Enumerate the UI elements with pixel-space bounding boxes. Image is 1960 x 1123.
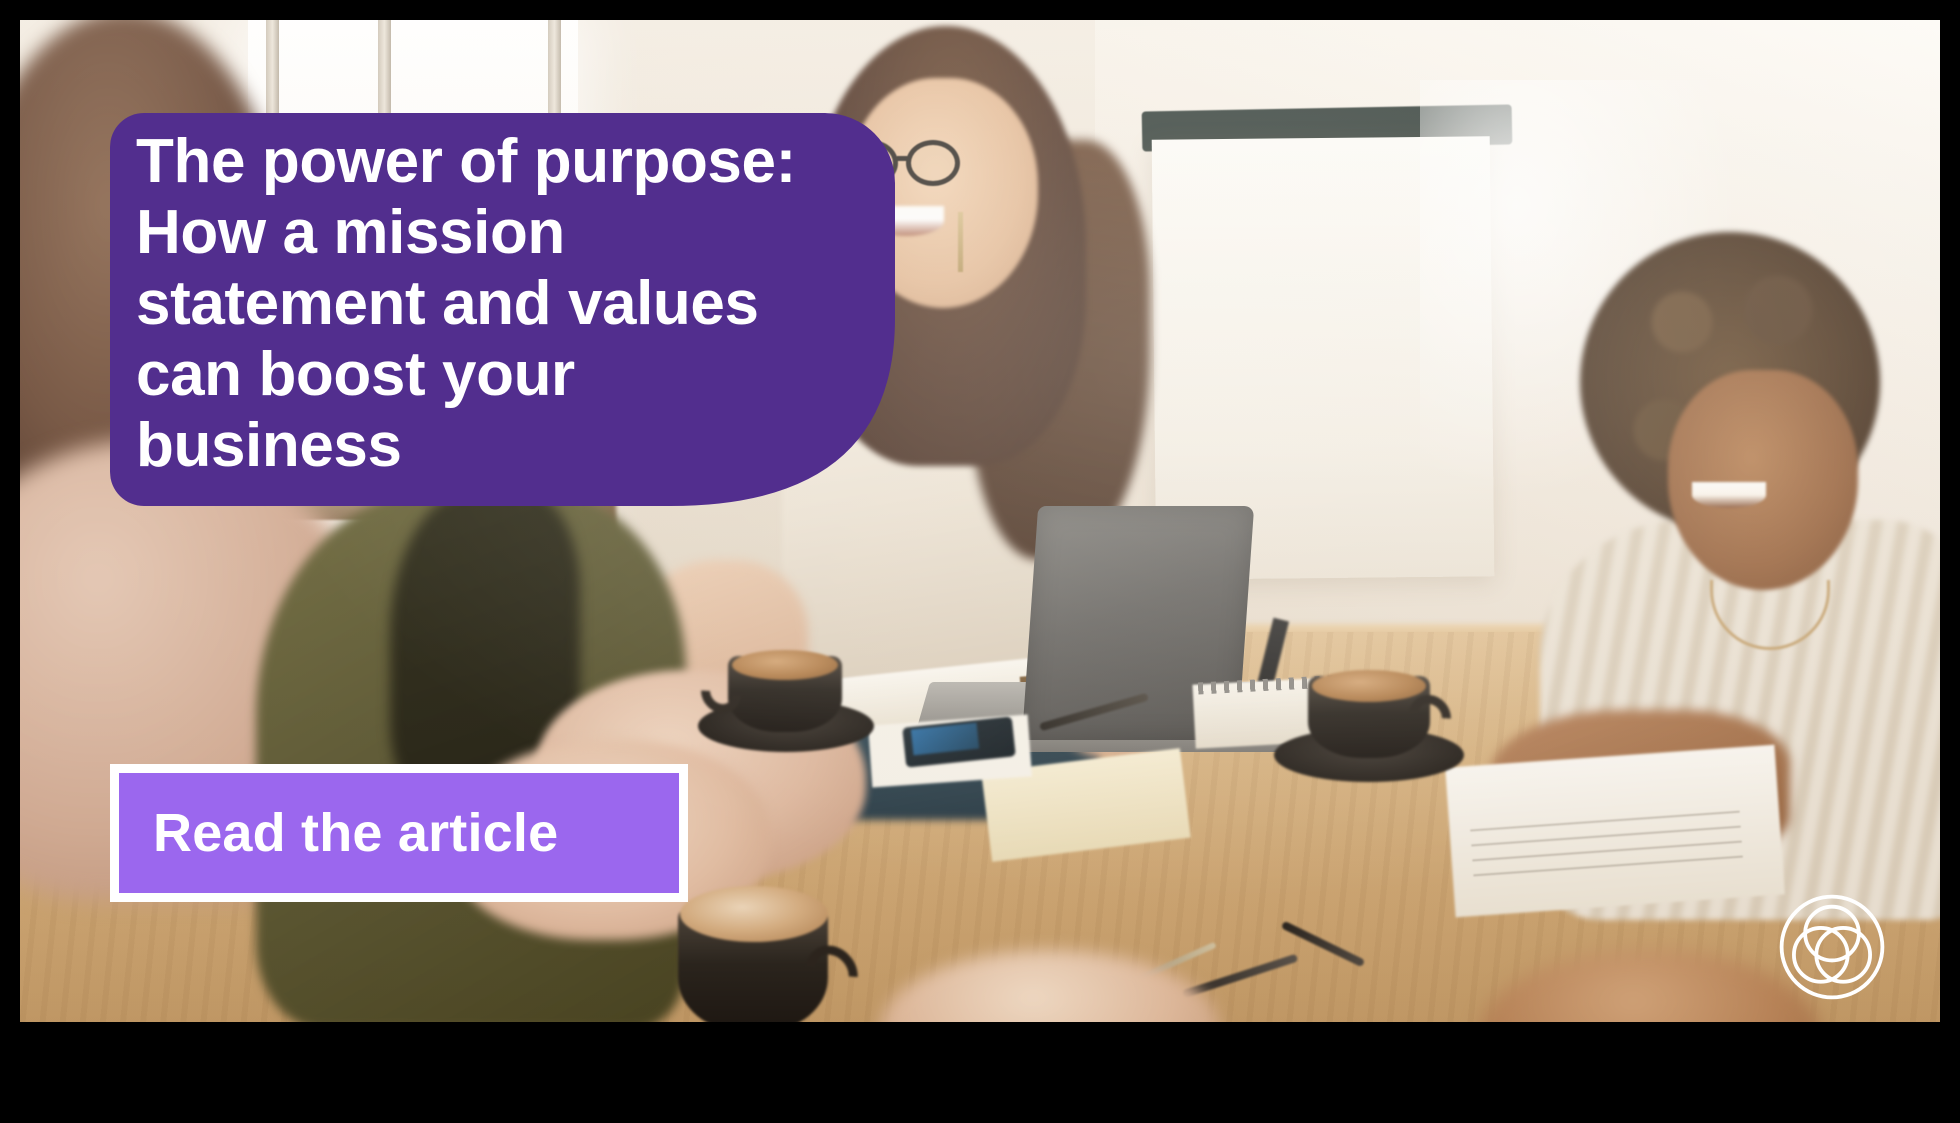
page-title: The power of purpose: How a mission stat…	[136, 126, 836, 481]
coffee-cup-center	[710, 638, 860, 758]
coffee-cup-foreground	[660, 882, 850, 1022]
coffee-cup-right	[1292, 660, 1452, 790]
read-the-article-button[interactable]: Read the article	[110, 764, 688, 902]
banner-root: The power of purpose: How a mission stat…	[0, 0, 1960, 1123]
seated-woman-smile	[1692, 482, 1766, 508]
seated-woman-face	[1668, 370, 1858, 590]
earring	[958, 212, 963, 272]
read-the-article-label: Read the article	[119, 806, 558, 860]
aperture-spiral-logo	[1776, 891, 1888, 1003]
